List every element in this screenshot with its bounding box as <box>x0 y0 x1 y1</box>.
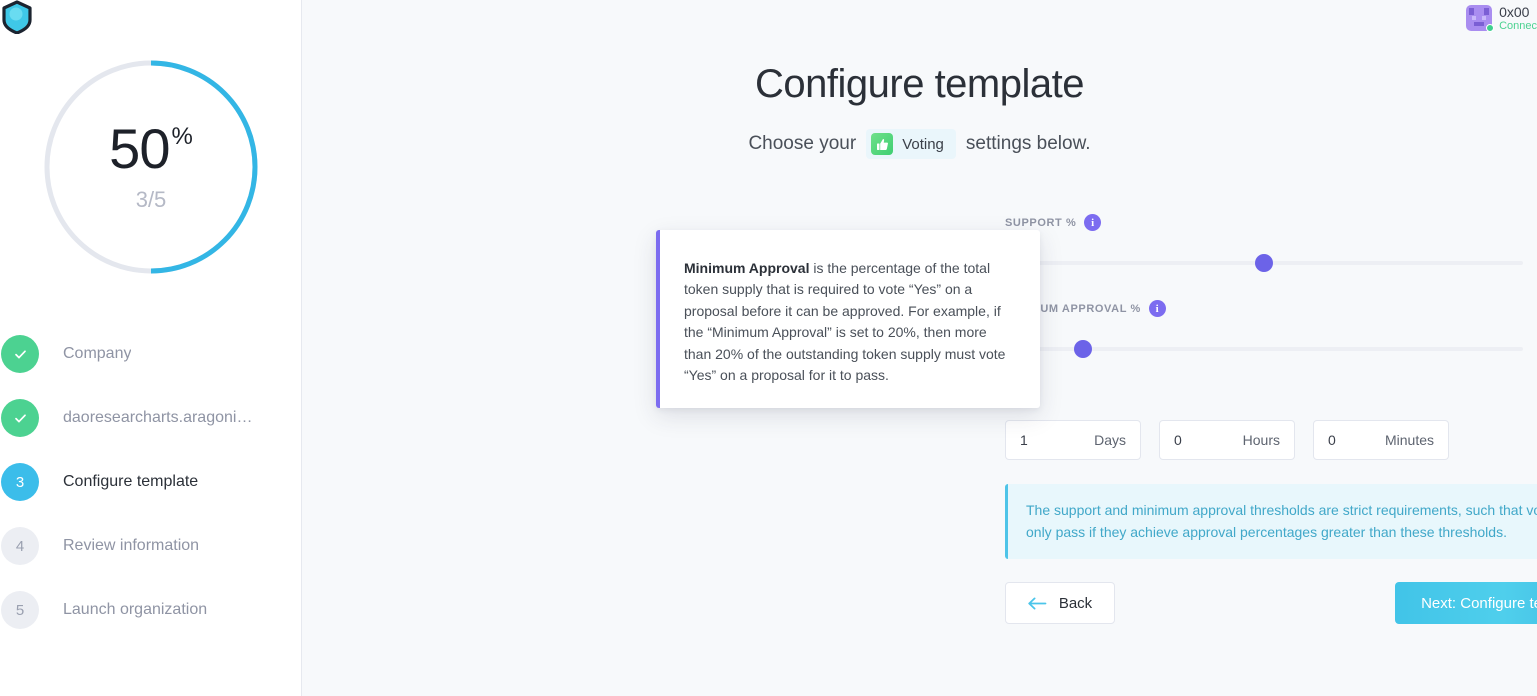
sidebar-step-company[interactable]: Company <box>0 322 302 386</box>
duration-hours-field[interactable]: 0 Hours <box>1159 420 1295 460</box>
sidebar: 50 % 3/5 Company daoresearcharts.aragoni… <box>0 0 302 696</box>
slider-fill <box>1005 261 1264 265</box>
template-settings-form: SUPPORT % i 50 % MINIMUM APPROVAL % i <box>1005 214 1537 384</box>
next-button[interactable]: Next: Configure template <box>1395 582 1537 624</box>
page-subtitle: Choose your Voting settings below. <box>302 129 1537 159</box>
step-badge-check-icon <box>1 335 39 373</box>
sidebar-step-domain[interactable]: daoresearcharts.aragoni… <box>0 386 302 450</box>
onboarding-progress: 50 % 3/5 <box>0 56 302 278</box>
sidebar-step-launch-organization[interactable]: 5 Launch organization <box>0 578 302 642</box>
subtitle-prefix: Choose your <box>748 133 856 155</box>
support-slider[interactable] <box>1005 251 1523 275</box>
sidebar-step-configure-template[interactable]: 3 Configure template <box>0 450 302 514</box>
minimum-approval-tooltip: Minimum Approval is the percentage of th… <box>656 230 1040 408</box>
duration-hours-unit: Hours <box>1243 432 1280 448</box>
support-field: SUPPORT % i 50 % <box>1005 214 1537 298</box>
template-badge[interactable]: Voting <box>866 129 956 159</box>
support-label: SUPPORT % <box>1005 217 1076 229</box>
info-icon[interactable]: i <box>1084 214 1101 231</box>
threshold-notice-text: The support and minimum approval thresho… <box>1026 500 1537 543</box>
progress-percent-value: 50 <box>109 121 169 177</box>
duration-days-value: 1 <box>1020 432 1028 448</box>
minimum-approval-slider[interactable] <box>1005 337 1523 361</box>
topbar: 0x00 Connec <box>1458 0 1537 36</box>
sidebar-step-label: daoresearcharts.aragoni… <box>63 409 252 427</box>
duration-minutes-unit: Minutes <box>1385 432 1434 448</box>
sidebar-step-label: Company <box>63 345 131 363</box>
tooltip-term: Minimum Approval <box>684 260 810 276</box>
status-dot <box>1486 24 1494 32</box>
progress-step-fraction: 3/5 <box>136 187 167 213</box>
step-badge-number: 4 <box>1 527 39 565</box>
slider-knob[interactable] <box>1074 340 1092 358</box>
duration-minutes-field[interactable]: 0 Minutes <box>1313 420 1449 460</box>
back-button-label: Back <box>1059 595 1092 612</box>
support-label-group: SUPPORT % i <box>1005 214 1101 231</box>
tooltip-text: Minimum Approval is the percentage of th… <box>684 258 1014 386</box>
duration-minutes-value: 0 <box>1328 432 1336 448</box>
template-badge-label: Voting <box>902 136 944 153</box>
progress-ring: 50 % 3/5 <box>40 56 262 278</box>
aragon-logo-icon[interactable] <box>0 0 34 34</box>
threshold-notice: The support and minimum approval thresho… <box>1005 484 1537 559</box>
minimum-approval-field: MINIMUM APPROVAL % i 15 % <box>1005 300 1537 384</box>
page-header: Configure template Choose your Voting se… <box>302 62 1537 159</box>
account-address: 0x00 <box>1499 4 1537 20</box>
vote-duration-fields: 1 Days 0 Hours 0 Minutes <box>1005 420 1449 460</box>
minimum-approval-slider-row: 15 % <box>1005 330 1537 368</box>
info-icon[interactable]: i <box>1149 300 1166 317</box>
duration-days-unit: Days <box>1094 432 1126 448</box>
avatar <box>1466 5 1492 31</box>
step-list: Company daoresearcharts.aragoni… 3 Confi… <box>0 322 302 642</box>
support-slider-row: 50 % <box>1005 244 1537 282</box>
progress-percent-sign: % <box>171 125 192 149</box>
slider-knob[interactable] <box>1255 254 1273 272</box>
account-button[interactable]: 0x00 Connec <box>1458 4 1537 33</box>
subtitle-suffix: settings below. <box>966 133 1091 155</box>
sidebar-step-label: Configure template <box>63 473 198 491</box>
page-title: Configure template <box>302 62 1537 107</box>
sidebar-step-label: Launch organization <box>63 601 207 619</box>
duration-days-field[interactable]: 1 Days <box>1005 420 1141 460</box>
account-status: Connec <box>1499 20 1537 33</box>
step-badge-check-icon <box>1 399 39 437</box>
thumbs-up-icon <box>871 133 893 155</box>
arrow-left-icon <box>1028 597 1047 610</box>
sidebar-step-review-information[interactable]: 4 Review information <box>0 514 302 578</box>
tooltip-body: is the percentage of the total token sup… <box>684 260 1005 383</box>
sidebar-step-label: Review information <box>63 537 199 555</box>
back-button[interactable]: Back <box>1005 582 1115 624</box>
step-badge-number: 3 <box>1 463 39 501</box>
form-actions: Back Next: Configure template <box>1005 582 1537 624</box>
step-badge-number: 5 <box>1 591 39 629</box>
app-root: 50 % 3/5 Company daoresearcharts.aragoni… <box>0 0 1537 696</box>
duration-hours-value: 0 <box>1174 432 1182 448</box>
